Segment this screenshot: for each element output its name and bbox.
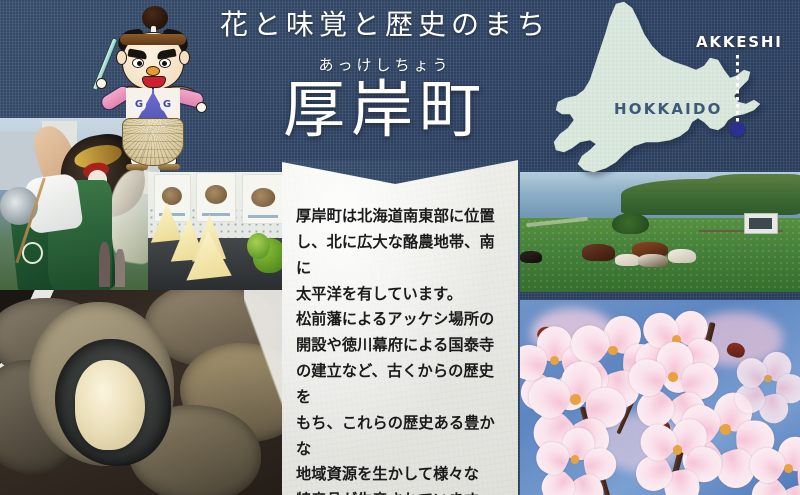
spectator [99,242,110,287]
poster-canvas: HOKKAIDO AKKESHI 花と味覚と歴史のまち あっけしちょう 厚岸町 … [0,0,800,495]
town-name-furigana: あっけしちょう [205,54,565,75]
cherry-blossom [744,355,792,403]
horse [582,244,616,261]
mascot-hand-right [196,102,207,113]
mascot-pupil-right [162,61,167,66]
cheese-photo [148,172,290,290]
pasture-horses-photo [520,172,800,292]
oyster-photo [0,290,290,495]
cherry-blossom [761,440,800,495]
cheese-package [196,172,236,222]
header-block: 花と味覚と歴史のまち あっけしちょう 厚岸町 [205,8,565,144]
horse [520,251,542,263]
akkeshi-samurai-mascot: G G [96,6,206,171]
cherry-blossom [649,421,707,479]
mascot-hand-left [96,78,107,89]
hokkaido-map: HOKKAIDO AKKESHI [528,0,800,185]
map-label-hokkaido: HOKKAIDO [614,100,723,118]
map-label-akkeshi: AKKESHI [696,33,783,51]
description-text: 厚岸町は北海道南東部に位置 し、北に広大な酪農地帯、南に 太平洋を有しています。… [296,204,506,495]
horse [668,249,696,263]
page-title: 厚岸町 [205,77,565,144]
akkeshi-leader-line [736,55,739,127]
mascot-nose [146,66,160,76]
oyster-meat [75,360,145,450]
horse-foal [615,254,640,266]
mascot-headband [120,34,186,45]
hokkaido-island-shape [528,0,800,185]
mascot-mouth [142,76,166,88]
mascot-badge-left: G [132,98,146,112]
mascot-ear-right [179,50,190,65]
mascot-pupil-left [137,61,142,66]
mascot-badge-right: G [160,98,174,112]
signboard [744,213,778,235]
akkeshi-location-dot [730,122,745,137]
mascot-ear-left [116,50,127,65]
page-tagline: 花と味覚と歴史のまち [205,8,565,42]
mascot-scallop-shell-ridges [122,118,184,166]
cherry-blossom [548,433,602,487]
cherry-blossom-photo [520,300,800,495]
description-card: 厚岸町は北海道南東部に位置 し、北に広大な酪農地帯、南に 太平洋を有しています。… [282,160,518,495]
horse-foal [638,254,669,267]
tree [612,213,648,235]
cheese-package [242,174,285,224]
cheese-package [154,174,191,221]
spectator [115,249,125,287]
cherry-blossom [542,366,608,432]
card-notch [282,160,518,184]
